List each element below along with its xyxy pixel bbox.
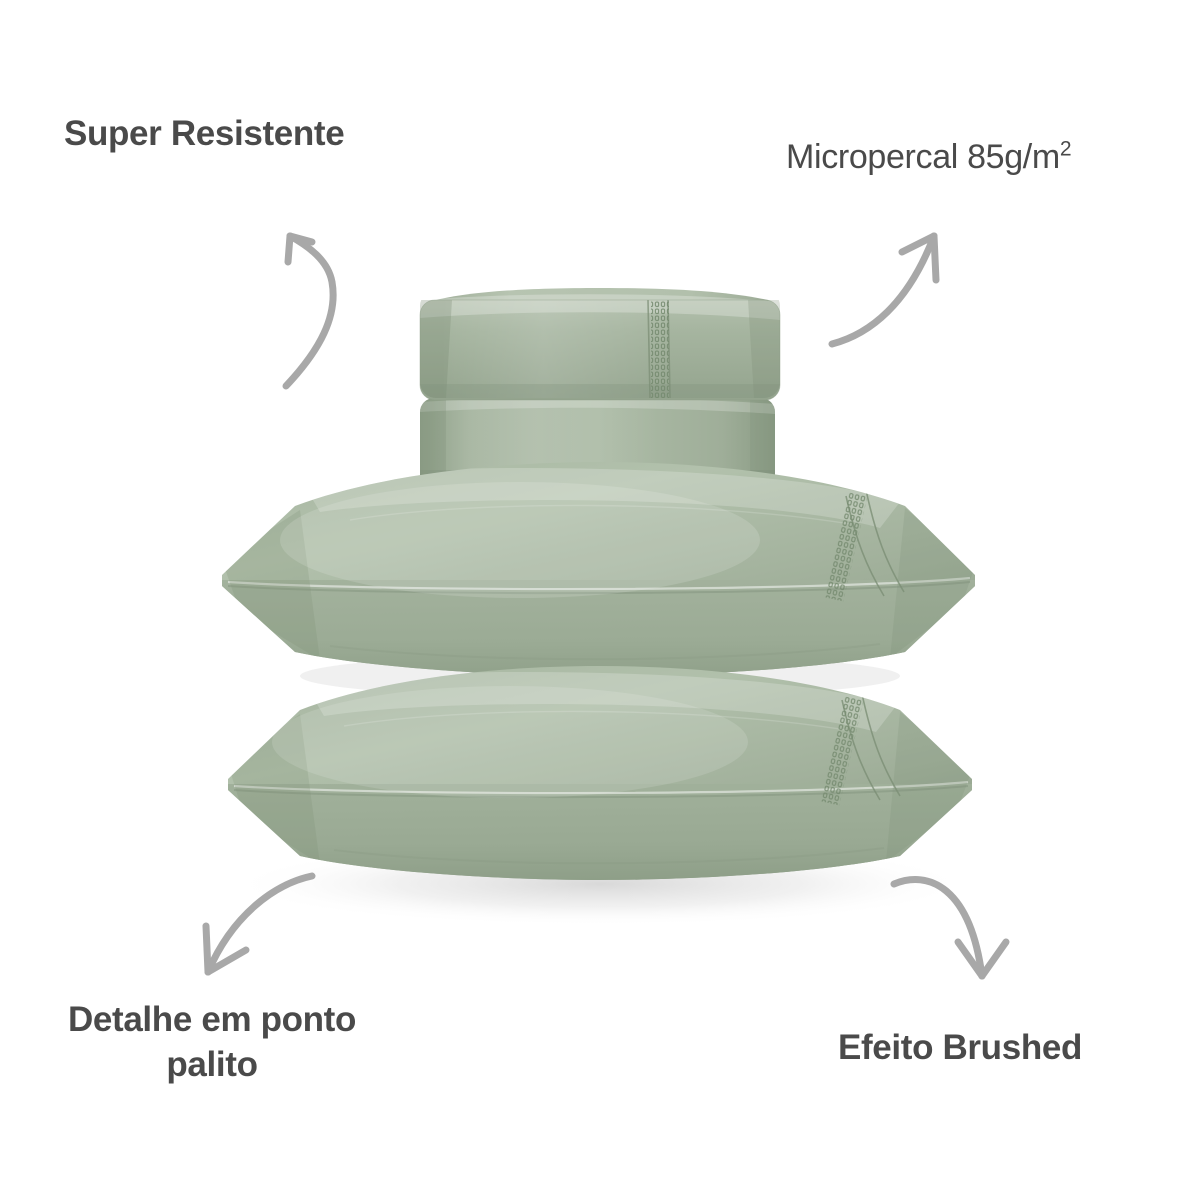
pillowcase-upper — [222, 462, 975, 690]
product-feature-image: Super Resistente Micropercal 85g/m2 Deta… — [0, 0, 1200, 1200]
callout-micropercal: Micropercal 85g/m2 — [786, 136, 1071, 180]
folded-sheet-top — [420, 288, 780, 400]
callout-micropercal-text: Micropercal 85g/m — [786, 138, 1060, 176]
callout-micropercal-superscript: 2 — [1060, 138, 1071, 161]
callout-super-resistente: Super Resistente — [64, 112, 344, 157]
hemstitch-detail-sheet — [648, 300, 670, 398]
callout-ponto-palito: Detalhe em ponto palito — [40, 998, 384, 1088]
pillowcase-lower — [228, 666, 972, 894]
callout-efeito-brushed: Efeito Brushed — [820, 1026, 1100, 1071]
